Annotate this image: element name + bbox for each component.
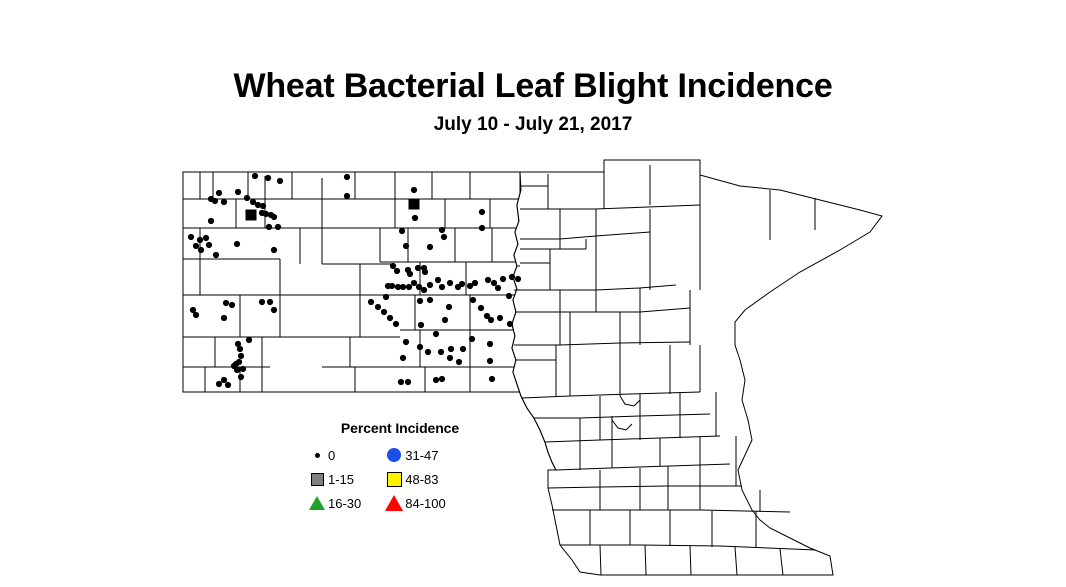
map-point <box>409 199 419 209</box>
legend: Percent Incidence 0 1-15 16-30 31-47 <box>300 420 500 512</box>
map-point <box>448 346 454 352</box>
map-point <box>221 199 227 205</box>
map-point <box>193 243 199 249</box>
map-point <box>221 315 227 321</box>
map-point <box>271 307 277 313</box>
legend-item-0: 0 <box>306 446 361 464</box>
legend-item-label: 16-30 <box>328 496 361 511</box>
legend-item-16-30: 16-30 <box>306 494 361 512</box>
map-point <box>246 337 252 343</box>
map-point <box>497 315 503 321</box>
map-point <box>421 287 427 293</box>
map-point <box>197 237 203 243</box>
page-title: Wheat Bacterial Leaf Blight Incidence <box>0 0 1066 106</box>
map-point <box>235 189 241 195</box>
map-point <box>439 376 445 382</box>
legend-column-left: 0 1-15 16-30 <box>306 446 361 512</box>
map-point <box>487 358 493 364</box>
legend-item-84-100: 84-100 <box>383 494 445 512</box>
map-point <box>411 187 417 193</box>
map-point <box>403 339 409 345</box>
map-point <box>478 305 484 311</box>
map-point <box>438 349 444 355</box>
map-point <box>213 252 219 258</box>
map-point <box>488 317 494 323</box>
map-point <box>491 280 497 286</box>
map-point <box>225 382 231 388</box>
map-point <box>515 276 521 282</box>
map-point <box>472 280 478 286</box>
map-point <box>427 297 433 303</box>
map-point <box>459 281 465 287</box>
legend-item-label: 48-83 <box>405 472 438 487</box>
map-point <box>485 277 491 283</box>
map-point <box>206 242 212 248</box>
legend-column-right: 31-47 48-83 84-100 <box>383 446 445 512</box>
map-point <box>223 300 229 306</box>
north-dakota-counties <box>183 172 520 392</box>
map-point <box>271 214 277 220</box>
gray-square-icon <box>306 470 328 488</box>
map-point <box>411 280 417 286</box>
map-point <box>500 276 506 282</box>
legend-heading: Percent Incidence <box>300 420 500 436</box>
map-point <box>238 374 244 380</box>
map-point <box>208 218 214 224</box>
minnesota-counties <box>512 160 882 575</box>
legend-item-label: 84-100 <box>405 496 445 511</box>
legend-item-label: 31-47 <box>405 448 438 463</box>
map-point <box>399 228 405 234</box>
map-point <box>422 269 428 275</box>
red-triangle-icon <box>383 494 405 512</box>
map-point <box>417 344 423 350</box>
map-point <box>221 377 227 383</box>
map-point <box>277 178 283 184</box>
map-point <box>509 274 515 280</box>
map-point <box>441 234 447 240</box>
map-point <box>446 304 452 310</box>
map-point <box>400 284 406 290</box>
map-point <box>442 317 448 323</box>
map-point <box>456 359 462 365</box>
map-point <box>469 336 475 342</box>
legend-item-31-47: 31-47 <box>383 446 445 464</box>
map-point <box>417 298 423 304</box>
map-point <box>375 304 381 310</box>
map-point <box>234 367 240 373</box>
title-block: Wheat Bacterial Leaf Blight Incidence Ju… <box>0 0 1066 136</box>
map-point <box>487 341 493 347</box>
map-point <box>234 241 240 247</box>
map-point <box>260 203 266 209</box>
map-point <box>394 268 400 274</box>
map-point <box>427 282 433 288</box>
map-point <box>425 349 431 355</box>
map-point <box>489 376 495 382</box>
map-point <box>407 271 413 277</box>
map-point <box>246 210 256 220</box>
map-point <box>198 247 204 253</box>
map-point <box>212 198 218 204</box>
map-point <box>406 284 412 290</box>
map-point <box>460 346 466 352</box>
map-point <box>412 215 418 221</box>
legend-item-label: 1-15 <box>328 472 354 487</box>
page-subtitle: July 10 - July 21, 2017 <box>0 106 1066 136</box>
map-point <box>506 293 512 299</box>
map-point <box>393 321 399 327</box>
map-point <box>244 195 250 201</box>
map-point <box>403 243 409 249</box>
blue-circle-icon <box>383 446 405 464</box>
map-point <box>507 321 513 327</box>
black-dot-icon <box>306 446 328 464</box>
map-point <box>405 379 411 385</box>
map-point <box>240 366 246 372</box>
map-point <box>252 173 258 179</box>
map-point <box>400 355 406 361</box>
map-point <box>271 247 277 253</box>
legend-item-1-15: 1-15 <box>306 470 361 488</box>
map-point <box>447 355 453 361</box>
map-point <box>495 285 501 291</box>
map-point <box>479 209 485 215</box>
map-point <box>447 280 453 286</box>
map-point <box>275 224 281 230</box>
map-point <box>433 331 439 337</box>
map-point <box>427 244 433 250</box>
map-point <box>203 235 209 241</box>
map-point <box>435 277 441 283</box>
map-point <box>237 346 243 352</box>
map-point <box>266 224 272 230</box>
map-point <box>479 225 485 231</box>
map-point <box>259 299 265 305</box>
map-point <box>229 302 235 308</box>
map-point <box>398 379 404 385</box>
yellow-square-icon <box>383 470 405 488</box>
legend-item-48-83: 48-83 <box>383 470 445 488</box>
map-point <box>390 263 396 269</box>
map-point <box>188 234 194 240</box>
map-point <box>389 283 395 289</box>
map-point <box>387 315 393 321</box>
map-point <box>470 297 476 303</box>
map-point <box>433 377 439 383</box>
map-point <box>267 299 273 305</box>
map-point <box>439 284 445 290</box>
map-point <box>193 312 199 318</box>
map-point <box>368 299 374 305</box>
map-point <box>415 265 421 271</box>
map-point <box>238 353 244 359</box>
map-point <box>439 227 445 233</box>
map-point <box>216 190 222 196</box>
legend-item-label: 0 <box>328 448 335 463</box>
map-point <box>383 294 389 300</box>
map-point <box>344 174 350 180</box>
map-point <box>216 381 222 387</box>
map-point <box>265 175 271 181</box>
map-point <box>418 322 424 328</box>
green-triangle-icon <box>306 494 328 512</box>
map-point <box>344 193 350 199</box>
map-point <box>381 309 387 315</box>
